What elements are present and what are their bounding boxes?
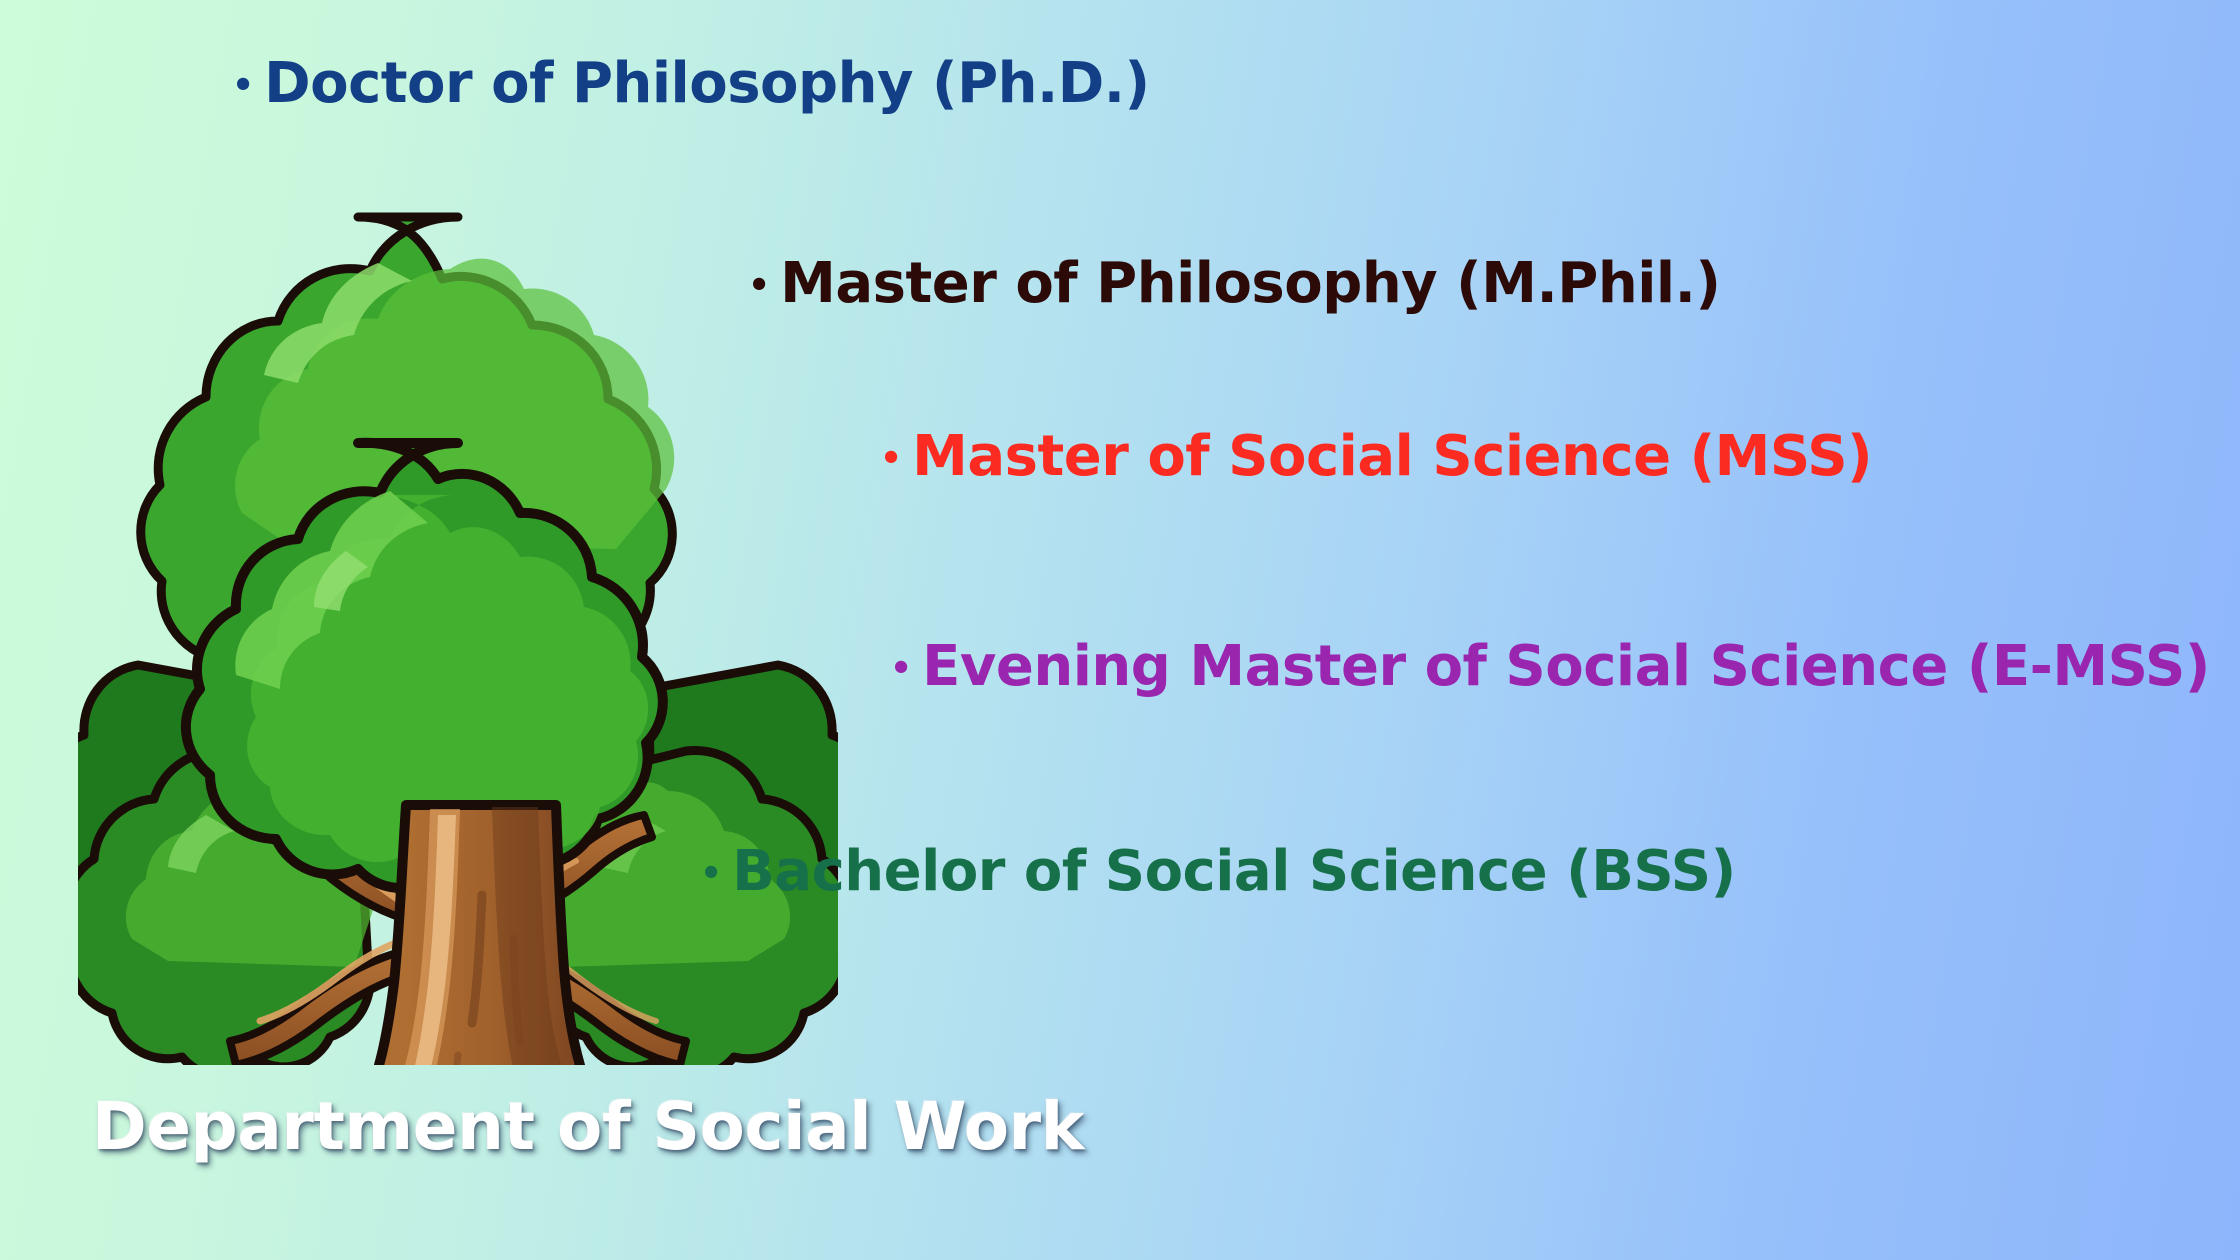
degree-item-bss[interactable]: • Bachelor of Social Science (BSS) [700, 843, 1736, 902]
degree-label: Bachelor of Social Science (BSS) [732, 843, 1736, 902]
bullet-icon: • [880, 442, 902, 477]
degree-label: Master of Social Science (MSS) [912, 428, 1872, 487]
degree-item-phd[interactable]: • Doctor of Philosophy (Ph.D.) [232, 55, 1150, 114]
bullet-icon: • [232, 69, 254, 104]
bullet-icon: • [700, 857, 722, 892]
degree-item-emss[interactable]: • Evening Master of Social Science (E-MS… [890, 638, 2210, 697]
bullet-icon: • [890, 652, 912, 687]
degree-item-mphil[interactable]: • Master of Philosophy (M.Phil.) [748, 255, 1720, 314]
degree-label: Evening Master of Social Science (E-MSS) [922, 638, 2210, 697]
tree-illustration [78, 195, 838, 1065]
degree-label: Master of Philosophy (M.Phil.) [780, 255, 1720, 314]
bullet-icon: • [748, 269, 770, 304]
degree-label: Doctor of Philosophy (Ph.D.) [264, 55, 1150, 114]
department-title: Department of Social Work [92, 1088, 1084, 1165]
degree-item-mss[interactable]: • Master of Social Science (MSS) [880, 428, 1872, 487]
slide-canvas: • Doctor of Philosophy (Ph.D.) • Master … [0, 0, 2240, 1260]
